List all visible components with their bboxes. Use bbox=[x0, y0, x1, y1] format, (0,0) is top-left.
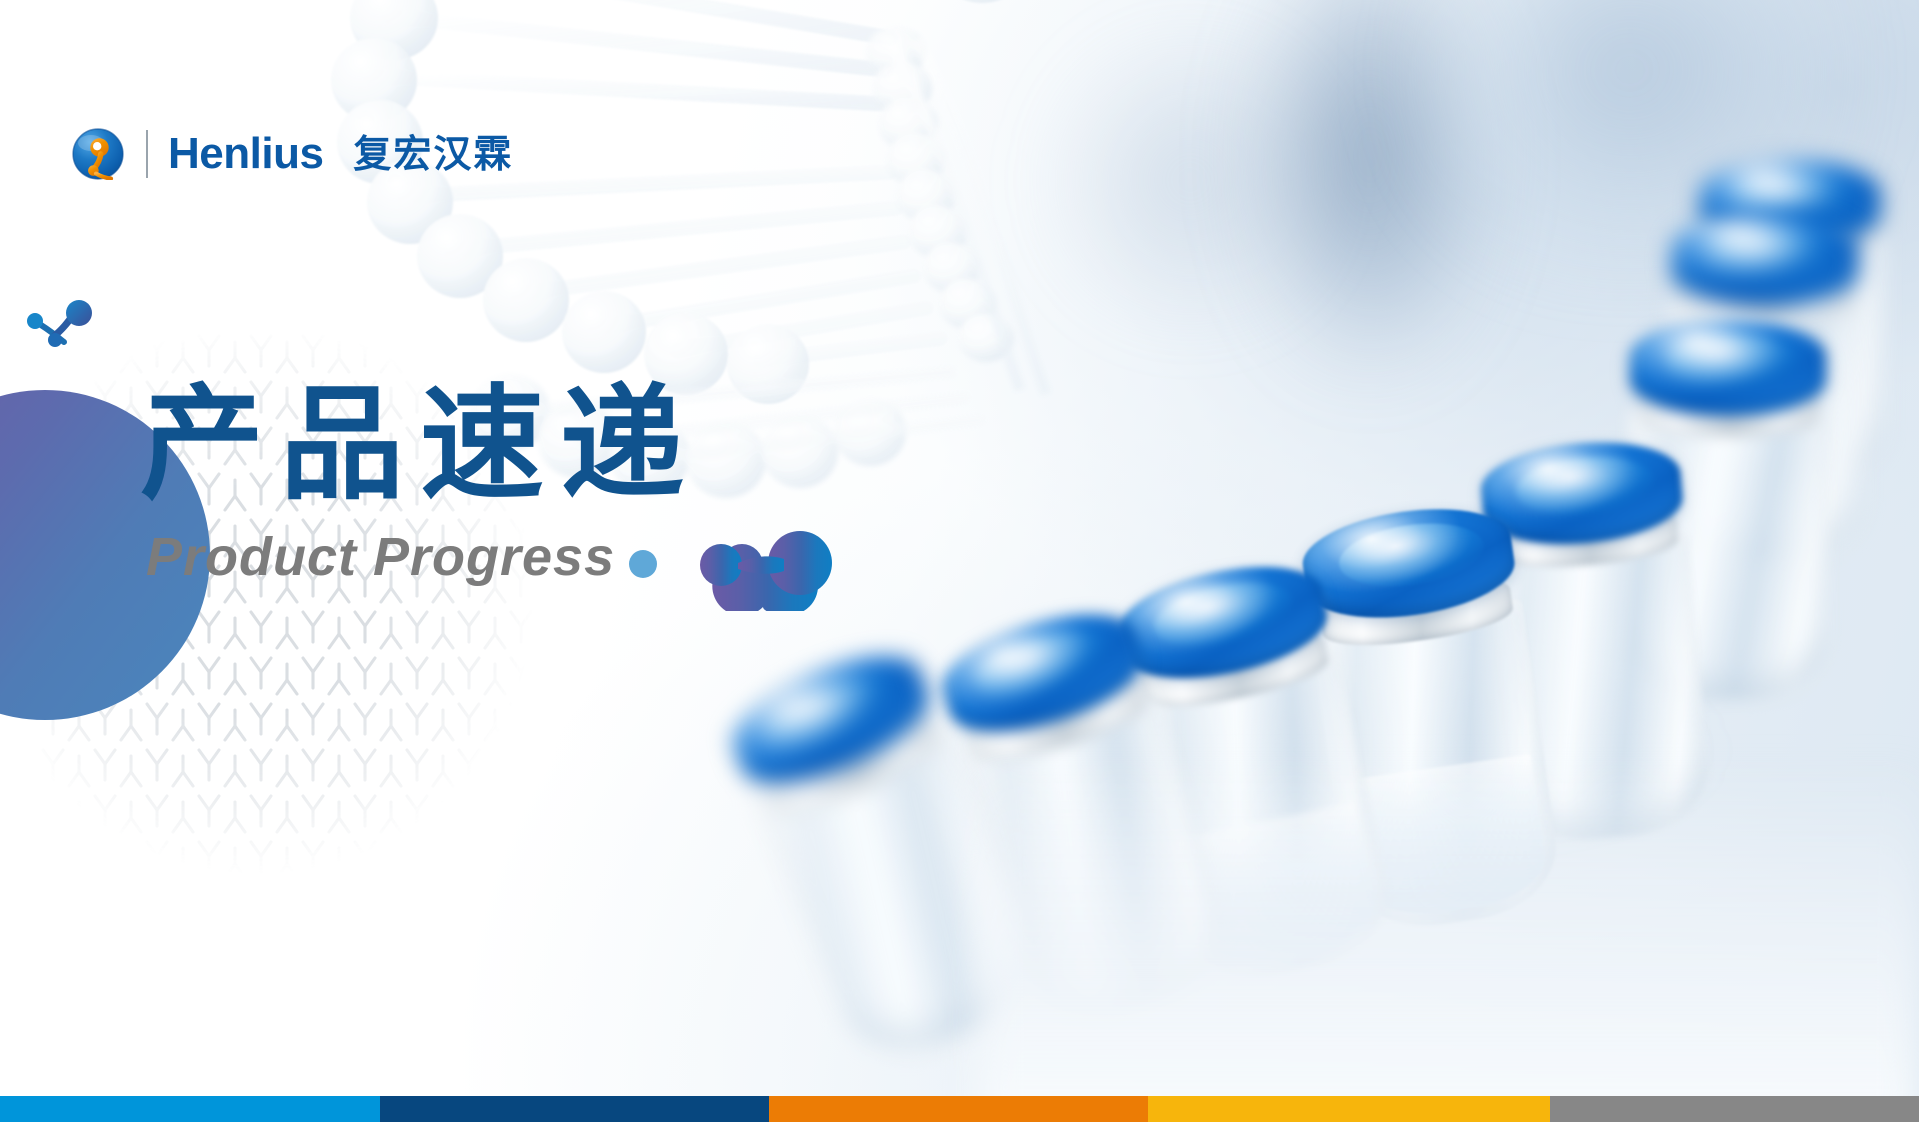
henlius-circle-molecule-mark bbox=[72, 128, 124, 180]
logo-english-name: Henlius bbox=[168, 132, 323, 176]
title-block: 产品速递 Product Progress bbox=[140, 372, 700, 588]
page-title-english: Product Progress bbox=[146, 526, 700, 588]
slide-canvas: Henlius 复宏汉霖 产品速递 Product Progress bbox=[0, 0, 1919, 1122]
henlius-logo[interactable]: Henlius 复宏汉霖 bbox=[72, 122, 513, 186]
background-lower-haze bbox=[980, 760, 1919, 1122]
bar-segment-dark-blue bbox=[380, 1096, 769, 1122]
molecule-node-icon bbox=[24, 300, 104, 362]
bar-segment-orange bbox=[769, 1096, 1148, 1122]
bar-segment-light-blue bbox=[0, 1096, 380, 1122]
bottom-color-bar bbox=[0, 1096, 1919, 1122]
logo-divider bbox=[146, 130, 148, 178]
bar-segment-yellow bbox=[1148, 1096, 1550, 1122]
decorative-dot bbox=[629, 550, 657, 578]
logo-chinese-name: 复宏汉霖 bbox=[353, 135, 513, 173]
decorative-dumbbell-molecule bbox=[692, 519, 840, 611]
page-title-chinese: 产品速递 bbox=[140, 372, 700, 518]
bar-segment-gray bbox=[1550, 1096, 1919, 1122]
